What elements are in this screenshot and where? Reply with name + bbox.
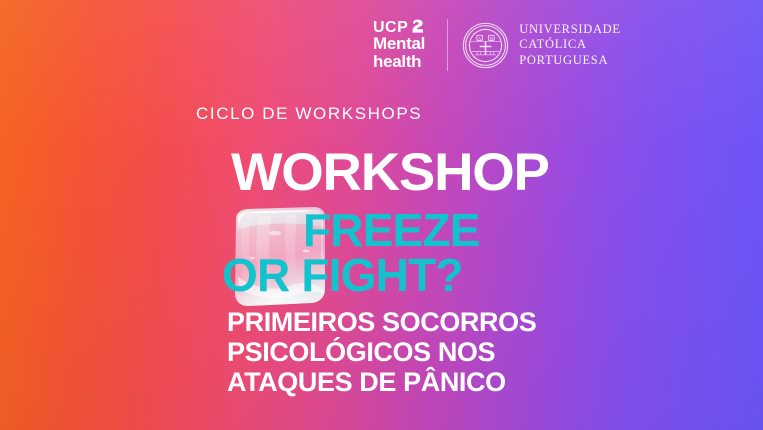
university-name-line1: UNIVERSIDADE — [519, 22, 620, 38]
logo-divider — [447, 19, 448, 71]
ucp-logo-mental-text: Mental — [373, 36, 425, 53]
university-lockup: A B — [462, 22, 620, 69]
university-crest-icon: A B — [462, 22, 509, 69]
university-name: UNIVERSIDADE CATÓLICA PORTUGUESA — [519, 22, 620, 69]
page-title: WORKSHOP — [231, 146, 549, 199]
ucp-mental-health-logo: UCP Mental health — [373, 19, 425, 70]
svg-text:B: B — [490, 35, 493, 40]
ucp-logo-ucp-text: UCP — [373, 20, 408, 36]
subtitle-line2: PSICOLÓGICOS NOS — [227, 337, 536, 367]
poster-canvas: UCP Mental health — [0, 0, 763, 430]
subtitle-line3: ATAQUES DE PÂNICO — [227, 367, 536, 397]
university-name-line2: CATÓLICA — [519, 37, 620, 53]
subtitle-line1: PRIMEIROS SOCORROS — [227, 307, 536, 337]
highlight-title: FREEZE OR FIGHT? — [303, 208, 480, 298]
highlight-title-line2: OR FIGHT? — [222, 253, 480, 298]
logo-row: UCP Mental health — [373, 19, 621, 71]
university-name-line3: PORTUGUESA — [519, 53, 620, 69]
kicker-text: CICLO DE WORKSHOPS — [196, 104, 422, 124]
brain-head-icon — [411, 19, 425, 35]
ucp-logo-line1: UCP — [373, 19, 425, 35]
ucp-logo-health-text: health — [373, 54, 425, 71]
subtitle-block: PRIMEIROS SOCORROS PSICOLÓGICOS NOS ATAQ… — [227, 307, 536, 398]
